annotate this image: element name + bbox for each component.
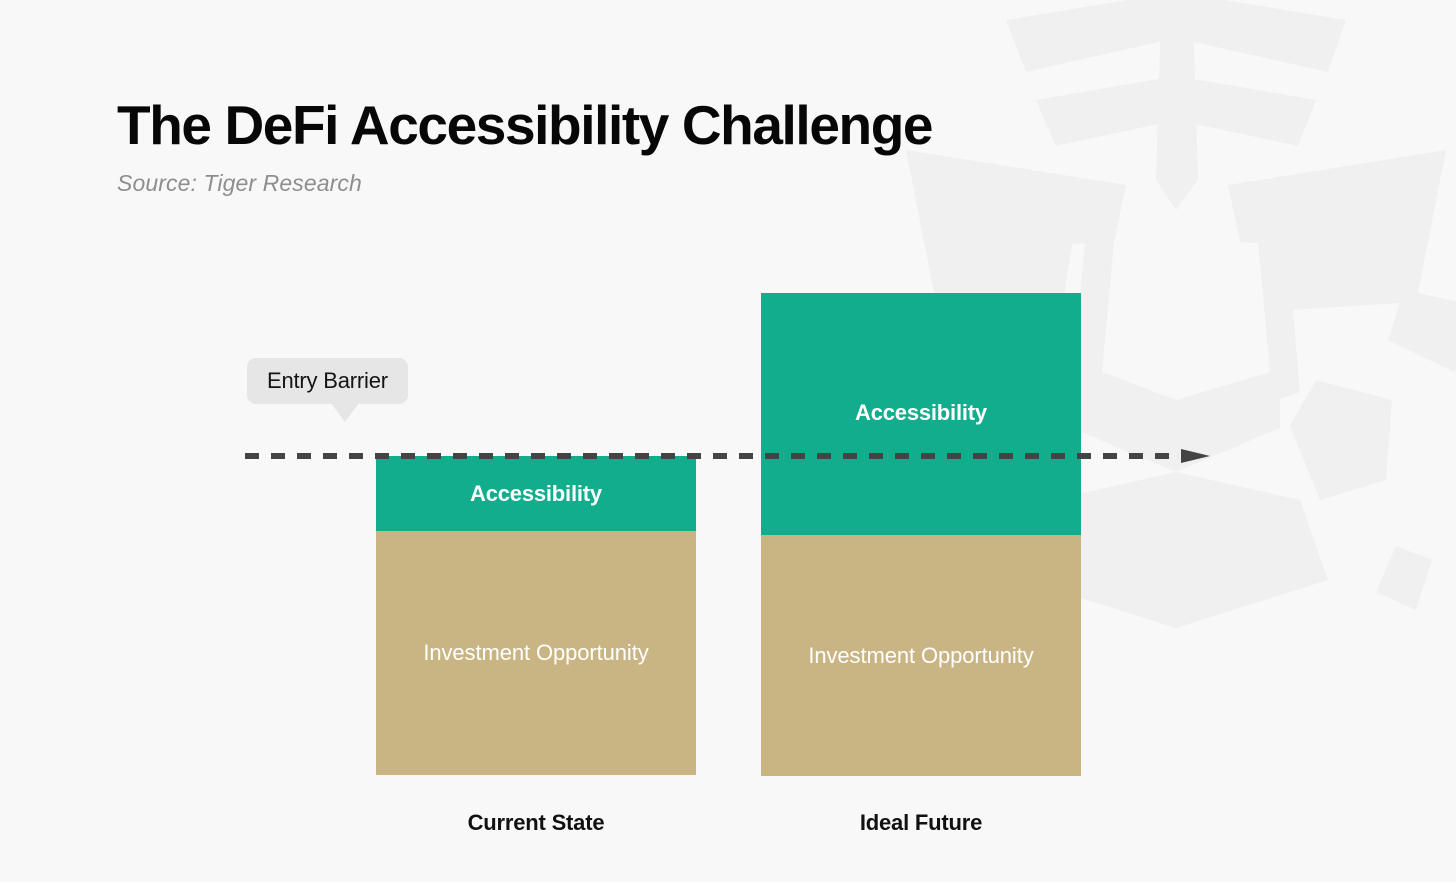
bar-segment-label: Investment Opportunity [808, 643, 1033, 669]
bar-segment-investment-opportunity[interactable]: Investment Opportunity [761, 535, 1081, 776]
bar-current-state[interactable]: Accessibility Investment Opportunity [376, 456, 696, 775]
arrow-right-icon [1181, 449, 1210, 463]
bar-segment-accessibility[interactable]: Accessibility [376, 456, 696, 531]
bar-segment-accessibility[interactable]: Accessibility [761, 293, 1081, 535]
bar-ideal-future[interactable]: Accessibility Investment Opportunity [761, 293, 1081, 776]
slide-canvas: The DeFi Accessibility Challenge Source:… [0, 0, 1456, 882]
bar-segment-investment-opportunity[interactable]: Investment Opportunity [376, 531, 696, 775]
bar-segment-label: Accessibility [855, 400, 987, 426]
stacked-bar-chart: Accessibility Investment Opportunity Cur… [0, 0, 1456, 882]
category-label-current-state: Current State [376, 810, 696, 836]
callout-tail-icon [331, 403, 359, 422]
category-label-ideal-future: Ideal Future [761, 810, 1081, 836]
bar-segment-label: Accessibility [470, 481, 602, 507]
bar-segment-label: Investment Opportunity [423, 640, 648, 666]
entry-barrier-callout[interactable]: Entry Barrier [247, 358, 408, 404]
entry-barrier-label: Entry Barrier [267, 368, 388, 394]
